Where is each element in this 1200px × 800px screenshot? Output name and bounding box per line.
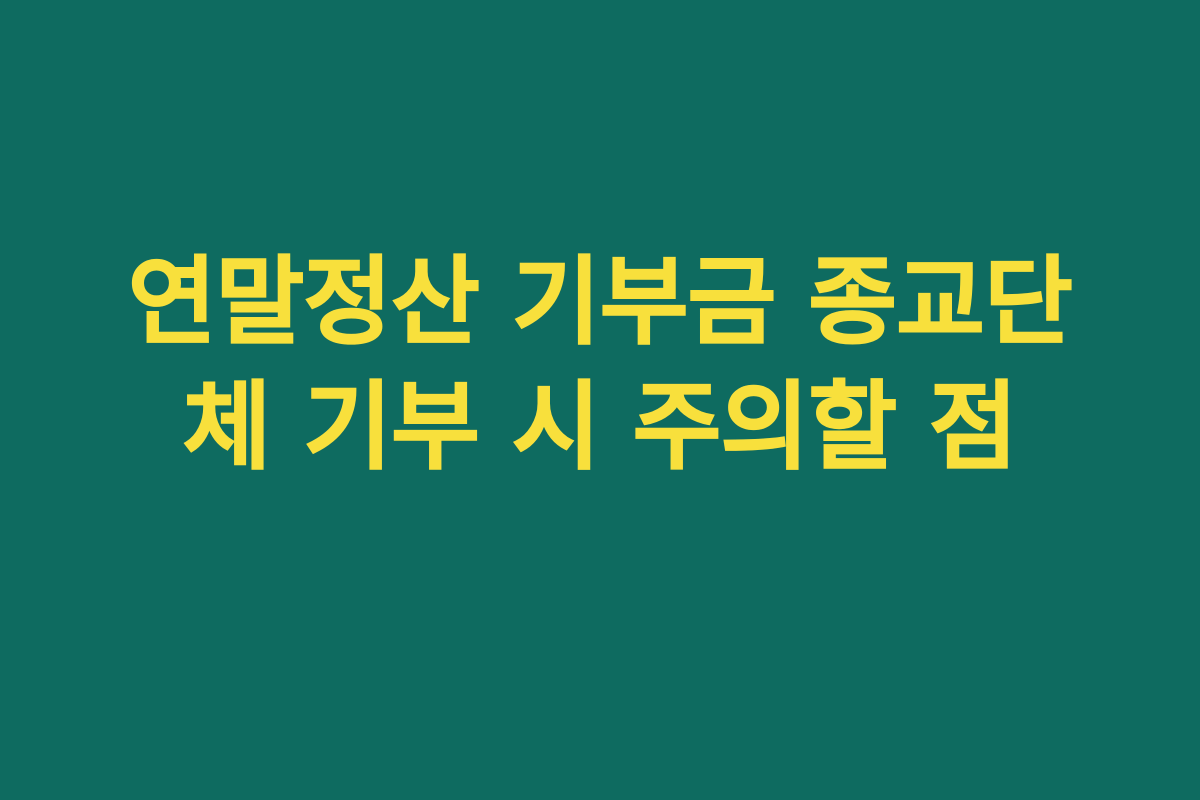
headline-line-2: 체 기부 시 주의할 점: [60, 365, 1140, 490]
headline-line-1: 연말정산 기부금 종교단: [60, 240, 1140, 365]
thumbnail-card: 연말정산 기부금 종교단 체 기부 시 주의할 점: [0, 0, 1200, 800]
headline-block: 연말정산 기부금 종교단 체 기부 시 주의할 점: [60, 240, 1140, 490]
